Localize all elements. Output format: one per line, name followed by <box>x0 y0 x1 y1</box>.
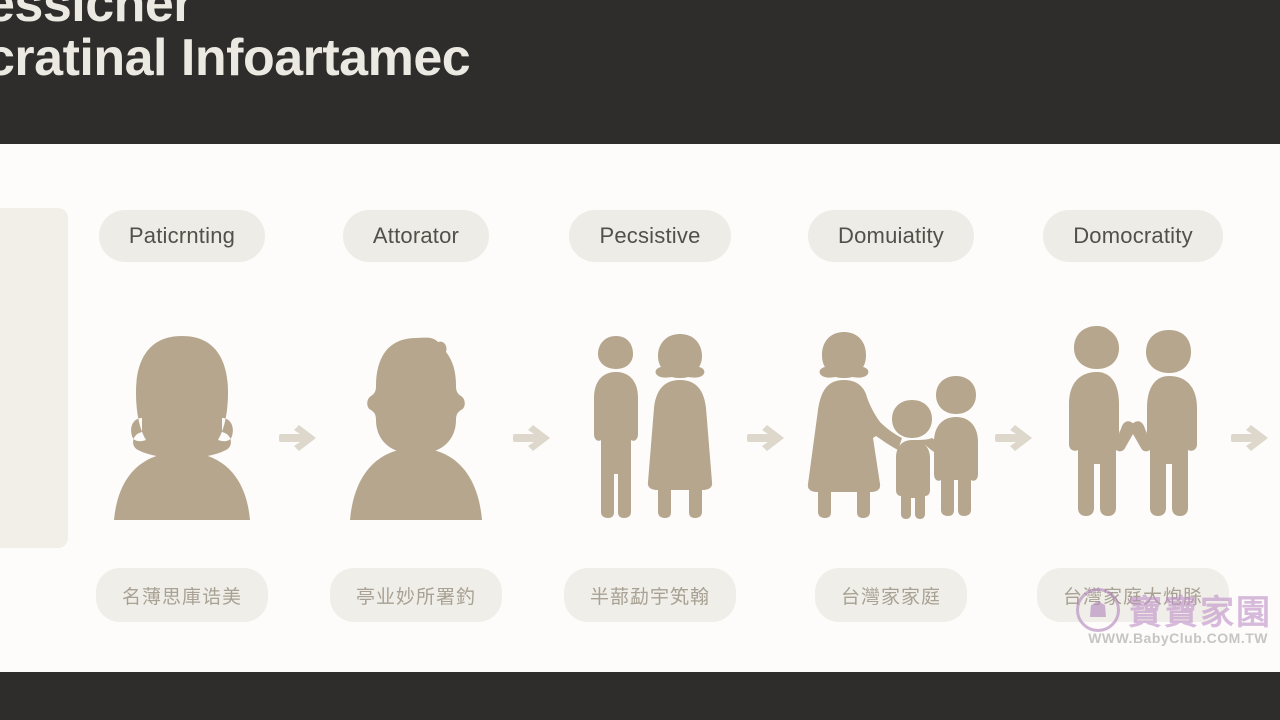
bottom-pill-label-2: 亭业妙所署釣 <box>356 582 476 609</box>
footer-band <box>0 672 1280 720</box>
right-arrow-icon <box>513 423 553 453</box>
top-pill-1[interactable]: Paticrnting <box>99 210 265 262</box>
top-pill-label-1: Paticrnting <box>129 223 235 249</box>
side-panel: a.qaia @uioio sTeuie sow <box>0 208 68 548</box>
figure-area-5 <box>1053 310 1213 520</box>
column-attorator[interactable]: Attorator 亭业妙所署釣 <box>328 210 504 622</box>
top-pill-label-5: Domocratity <box>1073 223 1193 249</box>
right-arrow-icon <box>995 423 1035 453</box>
right-arrow-icon <box>1231 423 1271 453</box>
bottom-pill-4[interactable]: 台灣家家庭 <box>815 568 967 622</box>
header-title-line-2: cratinal Infoartamec <box>0 28 470 88</box>
top-pill-5[interactable]: Domocratity <box>1043 210 1223 262</box>
couple-standing-icon <box>580 330 720 520</box>
bottom-pill-5[interactable]: 台灣家庭大炮脎 <box>1037 568 1229 622</box>
top-pill-2[interactable]: Attorator <box>343 210 489 262</box>
right-arrow-icon <box>747 423 787 453</box>
bottom-pill-label-3: 半蔀勐宇笂翰 <box>590 582 710 609</box>
top-pill-4[interactable]: Domuiatity <box>808 210 974 262</box>
figure-area-1 <box>102 310 262 520</box>
top-pill-label-3: Pecsistive <box>599 223 700 249</box>
figure-area-4 <box>802 310 980 520</box>
top-pill-label-2: Attorator <box>373 223 459 249</box>
top-pill-label-4: Domuiatity <box>838 223 944 249</box>
bottom-pill-label-1: 名薄思庫诰美 <box>122 582 242 609</box>
figure-area-2 <box>336 310 496 520</box>
male-bust-icon <box>336 330 496 520</box>
column-pecsistive[interactable]: Pecsistive <box>562 210 738 622</box>
two-people-holding-hands-icon <box>1053 322 1213 520</box>
slide-inner-panel: a.qaia @uioio sTeuie sow Paticrnting <box>8 148 1280 668</box>
bottom-pill-1[interactable]: 名薄思庫诰美 <box>96 568 268 622</box>
arrow-1 <box>270 210 328 670</box>
column-domuiatity[interactable]: Domuiatity <box>796 210 986 622</box>
arrow-2 <box>504 210 562 670</box>
bottom-pill-label-4: 台灣家家庭 <box>841 582 941 609</box>
arrow-3 <box>738 210 796 670</box>
screenshot-stage: essicher cratinal Infoartamec a.qaia @ui… <box>0 0 1280 720</box>
column-domocratity[interactable]: Domocratity <box>1044 210 1222 622</box>
bottom-pill-3[interactable]: 半蔀勐宇笂翰 <box>564 568 736 622</box>
column-row: Paticrnting 名薄思庫诰美 <box>94 210 1280 670</box>
right-arrow-icon <box>279 423 319 453</box>
arrow-4 <box>986 210 1044 670</box>
figure-area-3 <box>580 310 720 520</box>
female-bust-icon <box>102 330 262 520</box>
family-of-three-icon <box>802 328 980 520</box>
arrow-5 <box>1222 210 1280 670</box>
header-band: essicher cratinal Infoartamec <box>0 0 1280 144</box>
slide-canvas: a.qaia @uioio sTeuie sow Paticrnting <box>0 144 1280 672</box>
column-paticrnting[interactable]: Paticrnting 名薄思庫诰美 <box>94 210 270 622</box>
bottom-pill-label-5: 台灣家庭大炮脎 <box>1063 582 1203 609</box>
bottom-pill-2[interactable]: 亭业妙所署釣 <box>330 568 502 622</box>
top-pill-3[interactable]: Pecsistive <box>569 210 730 262</box>
